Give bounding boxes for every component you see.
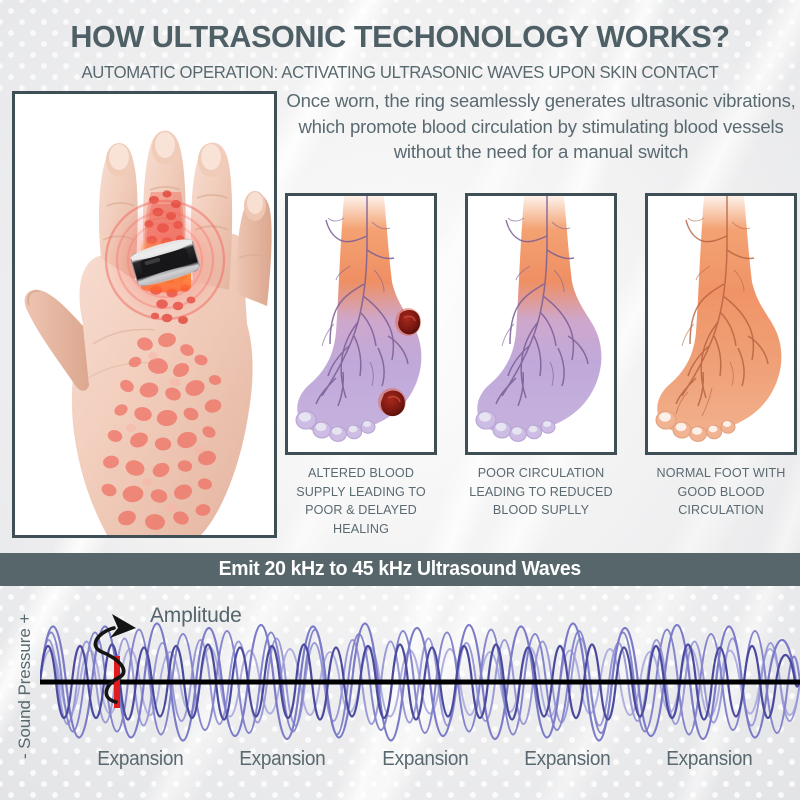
- foot-normal-circulation-illustration: [648, 196, 794, 452]
- foot-caption-altered-blood-supply: ALTERED BLOOD SUPPLY LEADING TO POOR & D…: [285, 464, 437, 546]
- foot-caption-poor-circulation: POOR CIRCULATION LEADING TO REDUCED BLOO…: [465, 464, 617, 546]
- chart-x-tick-labels: Expansion Expansion Expansion Expansion …: [95, 748, 755, 771]
- expansion-label: Expansion: [240, 748, 326, 771]
- banner-label: Emit 20 kHz to 45 kHz Ultrasound Waves: [219, 558, 581, 581]
- foot-poor-circulation-illustration: [468, 196, 614, 452]
- page-subtitle: AUTOMATIC OPERATION: ACTIVATING ULTRASON…: [16, 52, 784, 83]
- foot-panel-poor-circulation: [465, 193, 617, 455]
- amplitude-annotation-label: Amplitude: [150, 604, 242, 628]
- hand-with-smart-ring-illustration: [15, 94, 274, 535]
- infographic-root: HOW ULTRASONIC TECHONOLOGY WORKS? AUTOMA…: [0, 0, 800, 800]
- foot-altered-blood-supply-illustration: [288, 196, 434, 452]
- amplitude-arrowhead-icon: [110, 614, 136, 638]
- hand-illustration-panel: [12, 91, 277, 538]
- expansion-label: Expansion: [97, 748, 183, 771]
- page-title: HOW ULTRASONIC TECHONOLOGY WORKS?: [6, 0, 794, 52]
- expansion-label: Expansion: [667, 748, 753, 771]
- ultrasound-frequency-banner: Emit 20 kHz to 45 kHz Ultrasound Waves: [0, 553, 800, 586]
- description-text: Once worn, the ring seamlessly generates…: [285, 88, 797, 165]
- foot-caption-normal-circulation: NORMAL FOOT WITH GOOD BLOOD CIRCULATION: [645, 464, 797, 546]
- expansion-label: Expansion: [382, 748, 468, 771]
- header: HOW ULTRASONIC TECHONOLOGY WORKS? AUTOMA…: [0, 0, 800, 83]
- foot-panel-normal-circulation: [645, 193, 797, 455]
- expansion-label: Expansion: [524, 748, 610, 771]
- foot-panels-row: [285, 193, 797, 463]
- chart-y-axis-label: - Sound Pressure +: [11, 586, 39, 786]
- foot-captions-row: ALTERED BLOOD SUPPLY LEADING TO POOR & D…: [285, 464, 797, 546]
- foot-panel-altered-blood-supply: [285, 193, 437, 455]
